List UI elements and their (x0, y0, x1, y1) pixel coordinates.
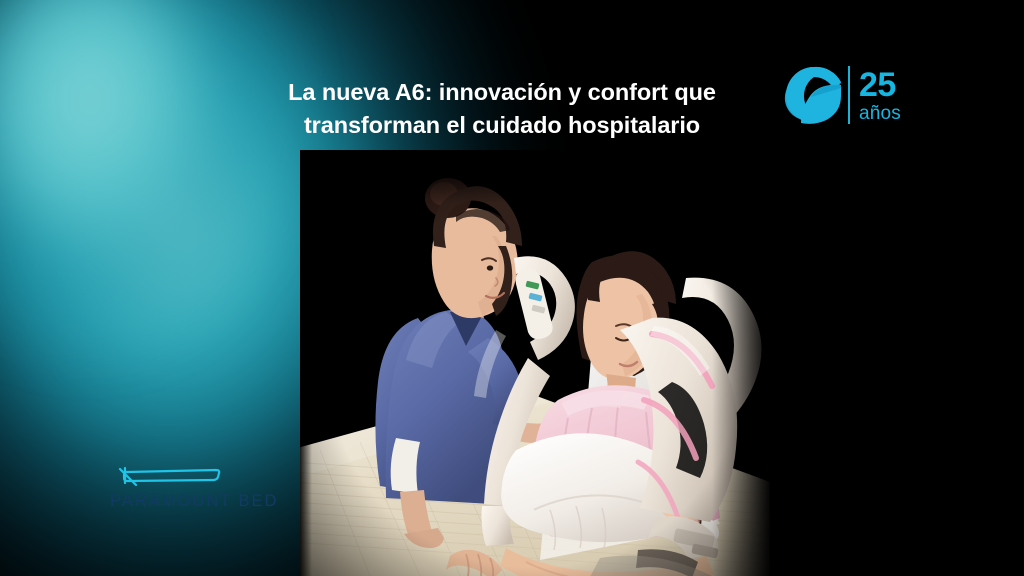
page-title: La nueva A6: innovación y confort que tr… (232, 76, 772, 142)
presentation-slide: La nueva A6: innovación y confort que tr… (0, 0, 1024, 576)
anniversary-logo: 25 años (783, 58, 905, 132)
logo-divider (848, 66, 850, 124)
paramount-bed-logo: PARAMOUNT BED (110, 465, 290, 513)
anniversary-word: años (859, 104, 901, 123)
hero-photo-image (300, 150, 770, 576)
paramount-bed-futon-mark (116, 465, 222, 489)
anniversary-text: 25 años (859, 68, 901, 123)
hero-photo (300, 150, 770, 576)
paramount-bed-wordmark: PARAMOUNT BED (110, 492, 290, 511)
gonpisa-leaf-mark (783, 64, 845, 126)
hospital-scene-illustration (300, 150, 770, 576)
anniversary-number: 25 (859, 68, 901, 102)
teal-glow-core (0, 0, 300, 360)
